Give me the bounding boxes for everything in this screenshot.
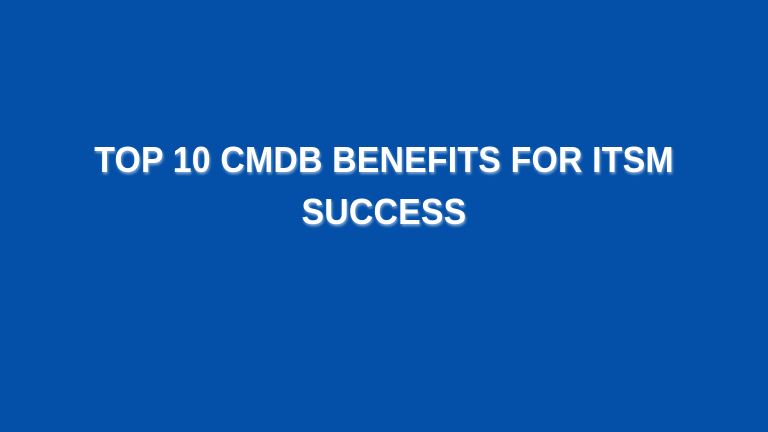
title-block: TOP 10 CMDB BENEFITS FOR ITSM SUCCESS	[0, 134, 768, 238]
blog-title-banner: TOP 10 CMDB BENEFITS FOR ITSM SUCCESS	[0, 0, 768, 432]
page-title: TOP 10 CMDB BENEFITS FOR ITSM SUCCESS	[49, 134, 718, 238]
